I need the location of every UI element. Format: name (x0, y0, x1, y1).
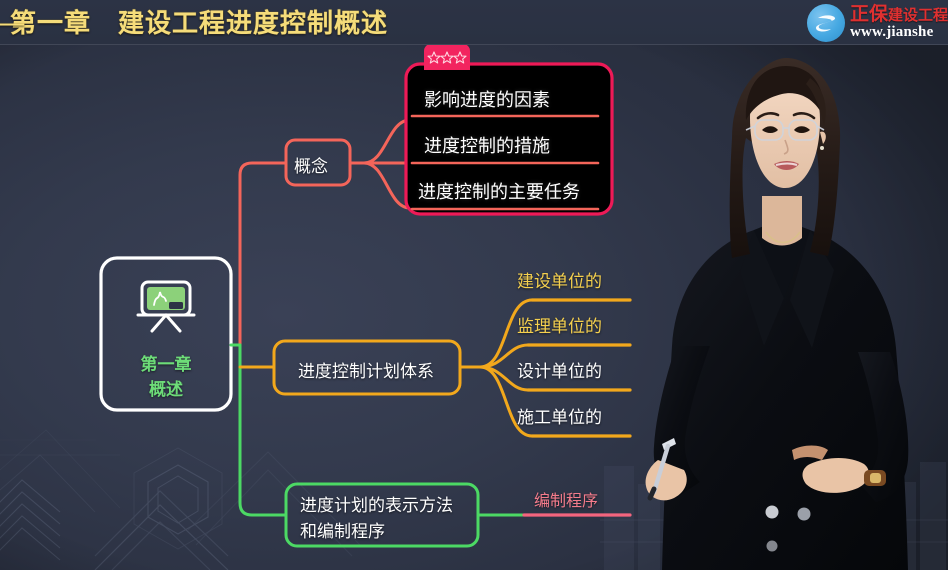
z-swoosh-icon (813, 10, 839, 36)
slide-stage: 第一章 概述 概念 影响进度的因素 进度控制的措施 进度控制的主要任务 进度控制… (0, 0, 948, 570)
brand-name: 正保建设工程 (850, 5, 948, 25)
page-title: — 第一章 建设工程进度控制概述 (10, 3, 388, 40)
brand-logo[interactable]: 正保建设工程 www.jianshe (807, 2, 948, 44)
difficulty-stars-badge (424, 44, 470, 70)
title-leading-mark: — (0, 8, 25, 38)
brand-circle-icon (807, 4, 845, 42)
title-bar: — 第一章 建设工程进度控制概述 正保建设工程 www.jianshe (0, 0, 948, 45)
mindmap-canvas (0, 0, 948, 570)
three-stars-icon (427, 50, 467, 64)
title-main-text: 第一章 建设工程进度控制概述 (10, 9, 388, 38)
brand-url: www.jianshe (850, 25, 948, 41)
